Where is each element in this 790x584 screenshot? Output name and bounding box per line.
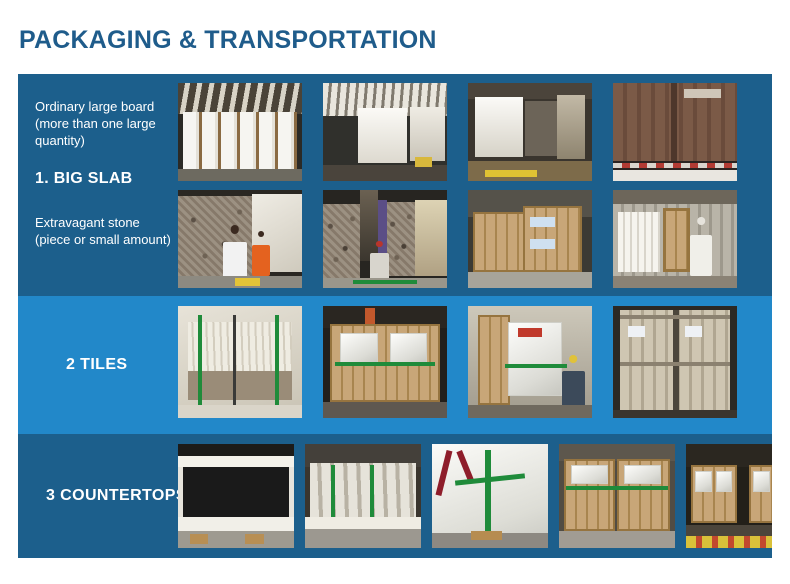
- big-slab-label-column: Ordinary large board (more than one larg…: [18, 74, 178, 296]
- photo-countertop-crates-loaded-inside-container: [686, 444, 772, 548]
- photo-wooden-crates-of-countertops-on-pallets: [559, 444, 675, 548]
- photo-white-wrapped-countertop-bundle-with-straps: [432, 444, 548, 548]
- slide-root: PACKAGING & TRANSPORTATION Ordinary larg…: [0, 0, 790, 584]
- photo-black-countertop-slab-on-wooden-a-frame: [178, 444, 294, 548]
- photo-grey-countertops-strapped-on-rack: [305, 444, 421, 548]
- photo-tile-crates-loaded-inside-container: [613, 306, 737, 418]
- heading-tiles: 2 TILES: [66, 356, 127, 374]
- section-tiles: 2 TILES: [18, 296, 772, 434]
- packaging-panel: Ordinary large board (more than one larg…: [18, 74, 772, 558]
- photo-wooden-crates-with-labels-holding-slabs: [468, 190, 592, 288]
- photo-brown-shipping-container-doors-closed-on-truck: [613, 83, 737, 181]
- photo-strapped-stacked-tile-bundle-on-pallet: [178, 306, 302, 418]
- photo-slabs-being-loaded-into-container-at-dock: [323, 83, 447, 181]
- photo-wooden-crates-of-tiles-on-pallets: [323, 306, 447, 418]
- photo-white-wrapped-slab-bundles-in-warehouse: [178, 83, 302, 181]
- page-title: PACKAGING & TRANSPORTATION: [19, 26, 437, 55]
- photo-worker-strapping-crated-tile-pallet: [468, 306, 592, 418]
- caption-extravagant-stone: Extravagant stone (piece or small amount…: [35, 214, 175, 248]
- photo-worker-bracing-slabs-inside-container: [613, 190, 737, 288]
- photo-workers-inspecting-large-granite-slab: [178, 190, 302, 288]
- section-countertops: 3 COUNTERTOPS: [18, 434, 772, 558]
- section-big-slab: Ordinary large board (more than one larg…: [18, 74, 772, 296]
- heading-big-slab: 1. BIG SLAB: [35, 170, 175, 187]
- photo-white-slabs-braced-inside-open-container: [468, 83, 592, 181]
- heading-countertops: 3 COUNTERTOPS: [46, 487, 187, 505]
- photo-worker-walking-between-stone-slab-bundles: [323, 190, 447, 288]
- caption-ordinary-large-board: Ordinary large board (more than one larg…: [35, 98, 175, 149]
